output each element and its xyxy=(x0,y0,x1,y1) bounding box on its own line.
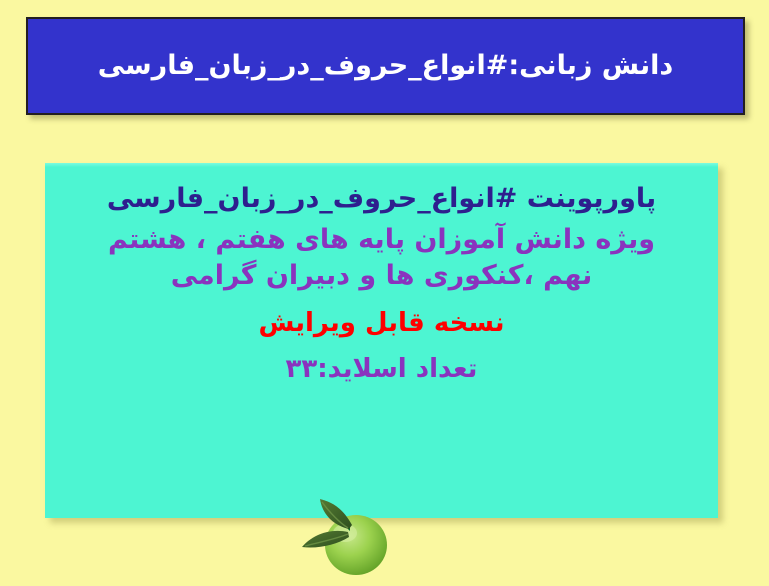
green-apple-icon xyxy=(300,495,410,583)
content-line-title: پاورپوینت #انواع_حروف_در_زبان_فارسی xyxy=(65,181,698,216)
apple-decoration xyxy=(300,495,410,583)
slide-content-box: پاورپوینت #انواع_حروف_در_زبان_فارسی ویژه… xyxy=(45,163,718,518)
slide-title-banner: دانش زبانی:#انواع_حروف_در_زبان_فارسی xyxy=(26,17,745,115)
content-line-audience-2: نهم ،کنکوری ها و دبیران گرامی xyxy=(65,258,698,294)
slide-title-text: دانش زبانی:#انواع_حروف_در_زبان_فارسی xyxy=(42,49,729,84)
content-line-slide-count: تعداد اسلاید:۳۳ xyxy=(65,353,698,387)
content-line-editable-note: نسخه قابل ویرایش xyxy=(65,307,698,341)
content-line-audience-1: ویژه دانش آموزان پایه های هفتم ، هشتم xyxy=(65,222,698,258)
presentation-slide: دانش زبانی:#انواع_حروف_در_زبان_فارسی پاو… xyxy=(0,0,769,586)
